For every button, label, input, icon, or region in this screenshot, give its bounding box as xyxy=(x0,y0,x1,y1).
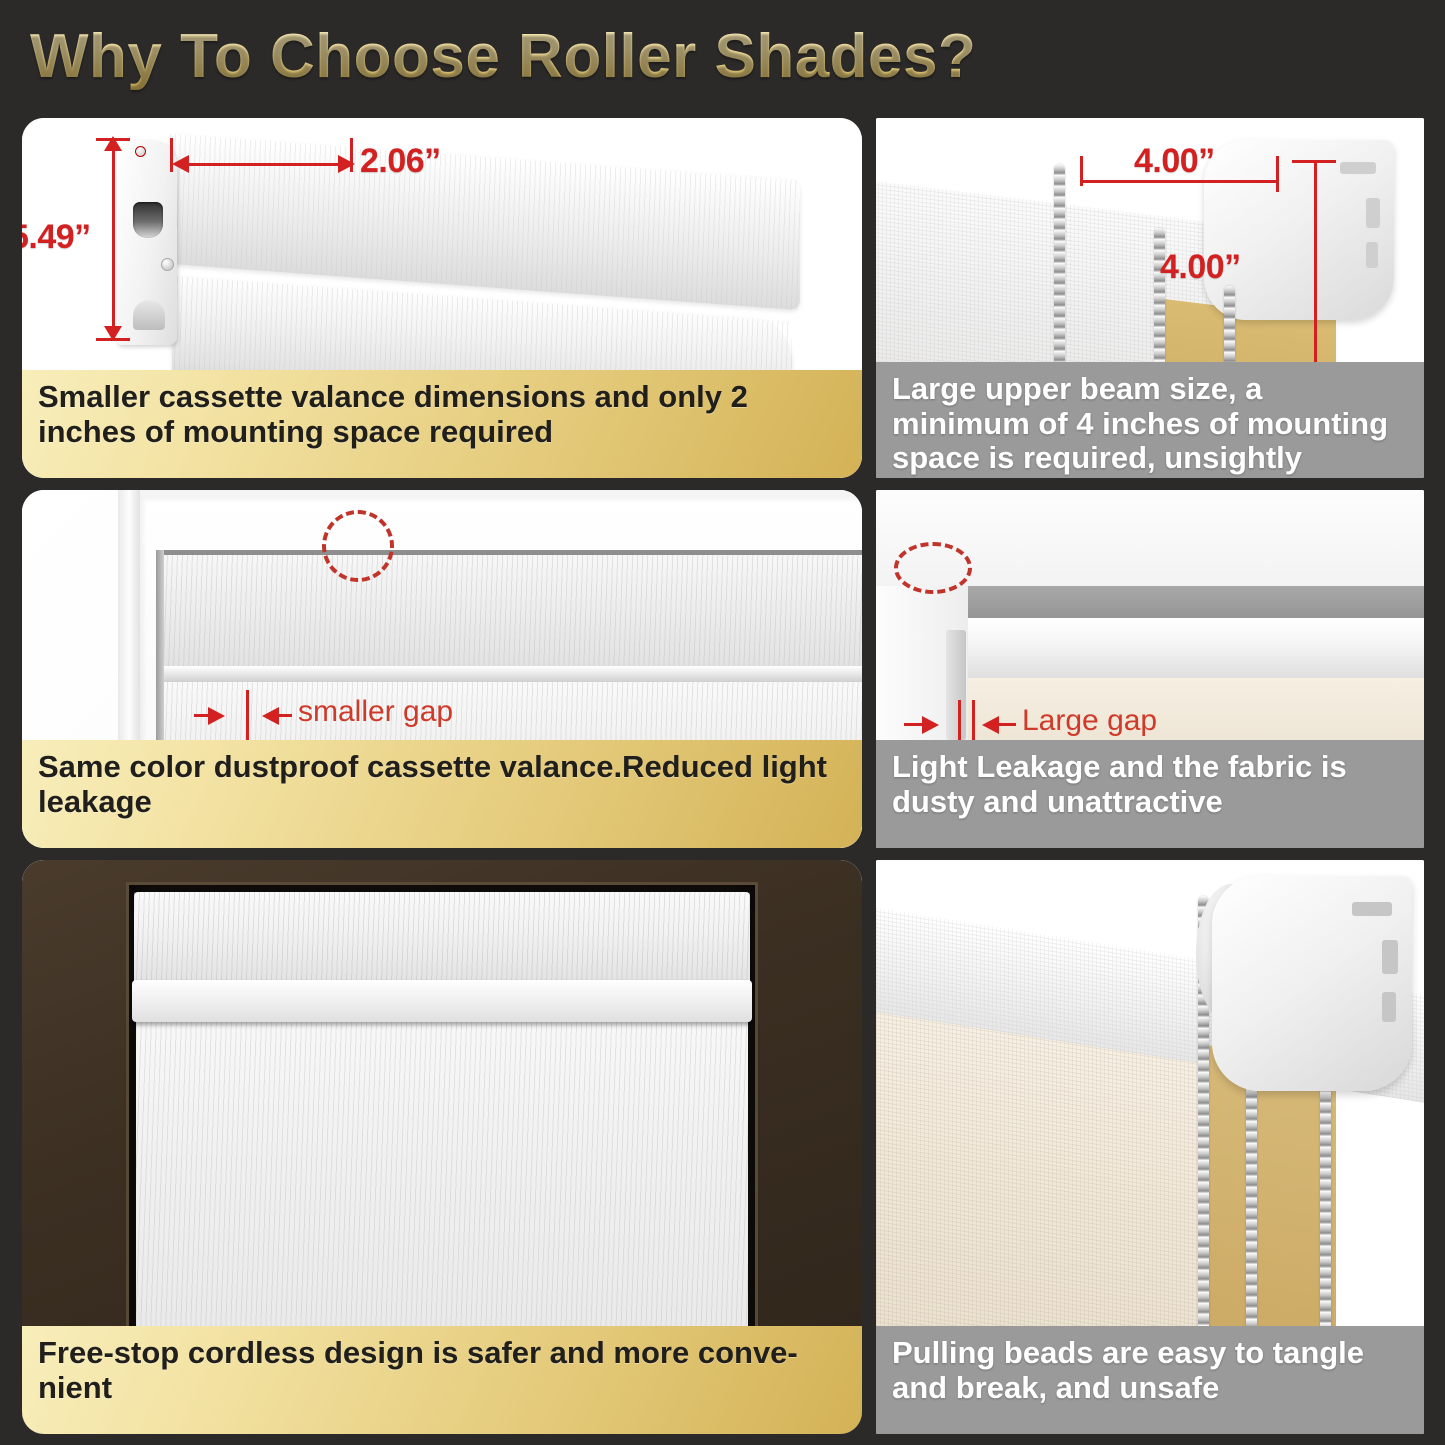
gap-marker-line xyxy=(246,690,249,742)
beam-width-label: 4.00” xyxy=(1134,142,1215,181)
width-dimension-arrow-right-icon xyxy=(338,155,355,173)
large-gap-label: Large gap xyxy=(1022,704,1157,738)
roller-end-bracket xyxy=(946,630,966,740)
bead-chain-right[interactable] xyxy=(1320,1070,1331,1338)
beam-width-tick-right xyxy=(1276,156,1279,192)
panel-5-caption: Free-stop cordless design is safer and m… xyxy=(22,1326,862,1434)
valance-end-bracket xyxy=(117,140,177,345)
valance-rail xyxy=(160,666,862,682)
panel-large-gap-light-leakage[interactable]: Large gap Light Leakage and the fabric i… xyxy=(876,490,1424,848)
panel-3-caption: Same color dustproof cassette valance.Re… xyxy=(22,740,862,848)
width-dimension-arrow-left-icon xyxy=(172,155,189,173)
gap-arrow-right-icon xyxy=(922,716,939,734)
valance-top-shadow-line xyxy=(160,550,862,555)
height-dimension-arrow-up-icon xyxy=(104,136,122,151)
poster-header: Why To Choose Roller Shades? xyxy=(0,0,1445,112)
height-dimension-line xyxy=(112,138,115,341)
panel-5-caption-line-1: Free-stop cordless design is safer and m… xyxy=(38,1336,846,1371)
width-dimension-label: 2.06” xyxy=(360,142,441,181)
poster-root: Why To Choose Roller Shades? xyxy=(0,0,1445,1445)
bracket-slot-a xyxy=(1352,902,1392,916)
bracket-slot-a xyxy=(1340,162,1376,174)
smaller-gap-label: smaller gap xyxy=(298,695,453,729)
highlight-circle-icon xyxy=(894,542,972,594)
bracket-slot-c xyxy=(1366,242,1378,268)
beam-width-tick-left xyxy=(1080,156,1083,186)
panel-4-caption: Light Leakage and the fabric is dusty an… xyxy=(876,740,1424,848)
valance-lip xyxy=(132,980,752,1022)
panel-1-caption: Smaller cassette valance dimensions and … xyxy=(22,370,862,478)
height-dimension-label: 5.49” xyxy=(22,218,91,257)
height-dimension-arrow-down-icon xyxy=(104,326,122,341)
bracket-lower-slot xyxy=(133,300,165,330)
bracket-slot-b xyxy=(1382,940,1398,974)
roller-tube xyxy=(966,618,1424,680)
beam-height-label: 4.00” xyxy=(1160,248,1241,287)
panel-2-caption: Large upper beam size, a minimum of 4 in… xyxy=(876,362,1424,478)
cassette-valance-face xyxy=(162,554,862,666)
beam-height-tick-top xyxy=(1292,160,1336,163)
panel-cordless-design[interactable]: Free-stop cordless design is safer and m… xyxy=(22,860,862,1434)
width-dimension-line xyxy=(178,163,350,166)
bracket-slot-c xyxy=(1382,992,1396,1022)
gap-arrow-right-icon xyxy=(208,707,225,725)
bracket-top-screw-icon xyxy=(135,146,146,157)
gap-arrow-left-tail xyxy=(278,714,292,717)
panel-5-caption-line-2: nient xyxy=(38,1371,846,1406)
panel-large-upper-beam[interactable]: 4.00” 4.00” Large upper beam size, a min… xyxy=(876,118,1424,478)
panel-smaller-gap[interactable]: smaller gap Same color dustproof cassett… xyxy=(22,490,862,848)
cassette-valance xyxy=(134,892,750,984)
bracket-upper-slot xyxy=(133,202,163,238)
gap-arrow-left-tail xyxy=(998,723,1016,726)
gap-arrow-left-icon xyxy=(262,707,279,725)
panel-6-caption: Pulling beads are easy to tangle and bre… xyxy=(876,1326,1424,1434)
panel-pulling-beads[interactable]: Pulling beads are easy to tangle and bre… xyxy=(876,860,1424,1434)
page-title: Why To Choose Roller Shades? xyxy=(0,21,976,92)
panel-cassette-valance-dimensions[interactable]: 2.06” 5.49” Smaller cassette valance dim… xyxy=(22,118,862,478)
panel-grid: 2.06” 5.49” Smaller cassette valance dim… xyxy=(0,112,1445,1445)
roller-shade-fabric xyxy=(136,1018,748,1348)
bracket-slot-b xyxy=(1366,198,1380,228)
highlight-circle-icon xyxy=(322,510,394,582)
bracket-screw-icon xyxy=(161,258,174,271)
roller-head-bracket xyxy=(1212,876,1412,1091)
gap-arrow-left-icon xyxy=(982,716,999,734)
